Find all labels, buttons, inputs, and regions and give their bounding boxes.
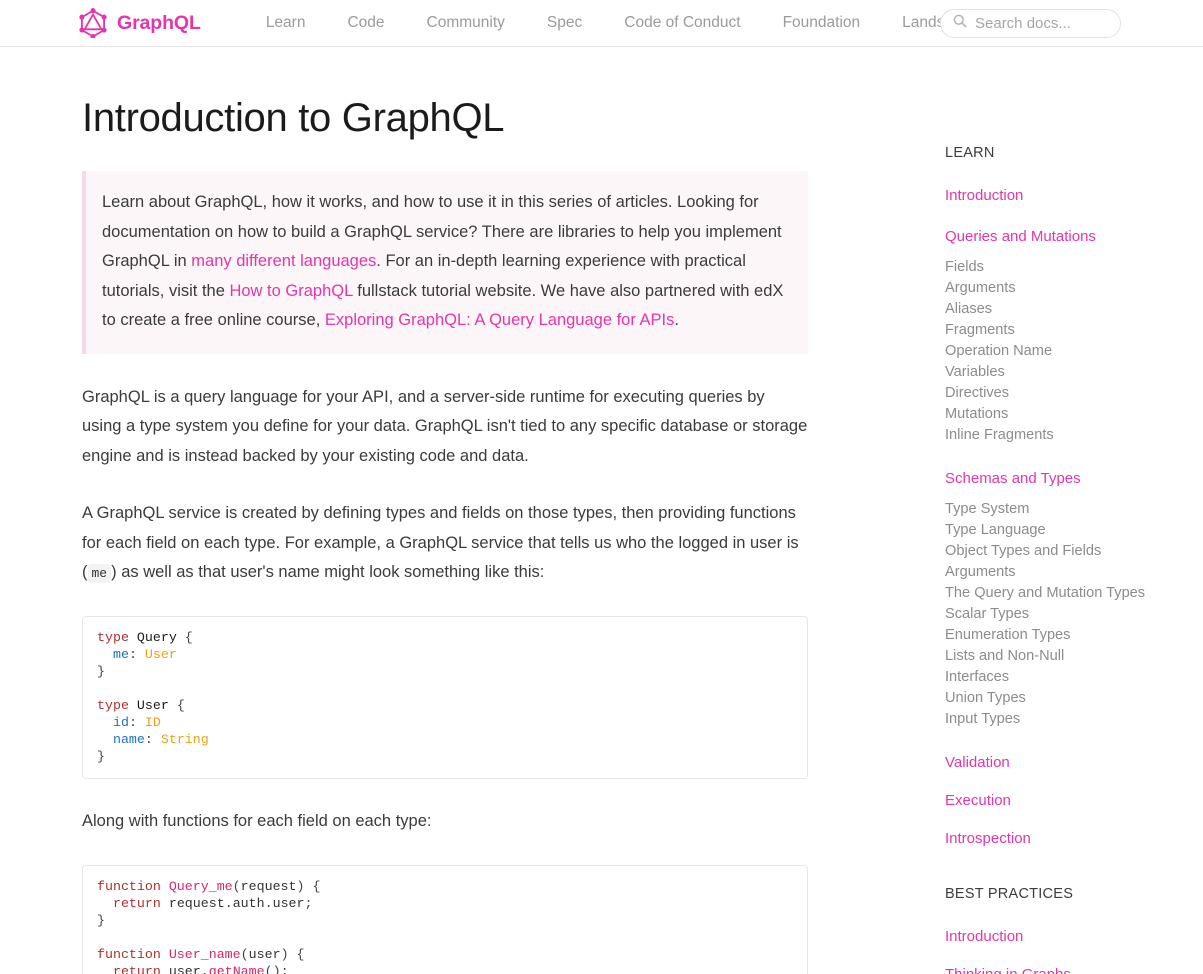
- sidebar-subitem-fields[interactable]: Fields: [945, 257, 1170, 278]
- nav-item-learn[interactable]: Learn: [245, 14, 327, 32]
- sidebar-subitem-variables[interactable]: Variables: [945, 362, 1170, 383]
- sidebar-subitem-input-types[interactable]: Input Types: [945, 709, 1170, 730]
- sidebar-item-thinking-in-graphs[interactable]: Thinking in Graphs: [945, 966, 1170, 974]
- sidebar-subitem-interfaces[interactable]: Interfaces: [945, 667, 1170, 688]
- search-container: [940, 9, 1121, 38]
- graphql-logo-icon: [78, 8, 108, 38]
- sidebar-subitem-scalar-types[interactable]: Scalar Types: [945, 604, 1170, 625]
- paragraph-along-with-functions: Along with functions for each field on e…: [82, 807, 808, 837]
- nav-item-community[interactable]: Community: [406, 14, 526, 32]
- sidebar-subitem-query-and-mutation-types[interactable]: The Query and Mutation Types: [945, 583, 1170, 604]
- paragraph-service-definition: A GraphQL service is created by defining…: [82, 499, 808, 588]
- sidebar-group-queries-and-mutations: Queries and Mutations Fields Arguments A…: [945, 228, 1170, 446]
- brand-home-link[interactable]: GraphQL: [78, 8, 201, 38]
- code-block-functions-content: function Query_me(request) { return requ…: [97, 878, 793, 974]
- sidebar-subitem-directives[interactable]: Directives: [945, 383, 1170, 404]
- intro-callout-text: Learn about GraphQL, how it works, and h…: [102, 188, 786, 336]
- sidebar-subitem-lists-and-non-null[interactable]: Lists and Non-Null: [945, 646, 1170, 667]
- page-layout: Introduction to GraphQL Learn about Grap…: [0, 47, 1203, 974]
- page-title: Introduction to GraphQL: [82, 94, 808, 142]
- sidebar-subitem-fragments[interactable]: Fragments: [945, 320, 1170, 341]
- sidebar-subitem-mutations[interactable]: Mutations: [945, 404, 1170, 425]
- sidebar-subitem-aliases[interactable]: Aliases: [945, 299, 1170, 320]
- nav-item-code-of-conduct[interactable]: Code of Conduct: [603, 14, 761, 32]
- inline-code-me: me: [88, 564, 112, 583]
- sidebar-subitem-arguments[interactable]: Arguments: [945, 278, 1170, 299]
- search-input[interactable]: [975, 15, 1108, 32]
- sidebar-item-introduction[interactable]: Introduction: [945, 187, 1170, 204]
- sidebar-group-introduction: Introduction: [945, 187, 1170, 204]
- sidebar-subitem-enumeration-types[interactable]: Enumeration Types: [945, 625, 1170, 646]
- sidebar-item-schemas-and-types[interactable]: Schemas and Types: [945, 470, 1170, 487]
- link-how-to-graphql[interactable]: How to GraphQL: [229, 282, 352, 300]
- sidebar-item-introspection[interactable]: Introspection: [945, 830, 1170, 847]
- sidebar-subitem-type-system[interactable]: Type System: [945, 499, 1170, 520]
- sidebar-subitem-union-types[interactable]: Union Types: [945, 688, 1170, 709]
- link-exploring-graphql-course[interactable]: Exploring GraphQL: A Query Language for …: [325, 311, 674, 329]
- code-block-schema-content: type Query { me: User } type User { id: …: [97, 629, 793, 765]
- intro-callout: Learn about GraphQL, how it works, and h…: [82, 171, 808, 354]
- sidebar-item-queries-and-mutations[interactable]: Queries and Mutations: [945, 228, 1170, 245]
- link-many-different-languages[interactable]: many different languages: [191, 252, 376, 270]
- code-block-functions: function Query_me(request) { return requ…: [82, 865, 808, 974]
- search-box[interactable]: [940, 9, 1121, 38]
- paragraph-segment-b: ) as well as that user's name might look…: [111, 563, 544, 581]
- docs-sidebar: LEARN Introduction Queries and Mutations…: [808, 47, 1170, 974]
- site-header: GraphQL Learn Code Community Spec Code o…: [0, 0, 1203, 47]
- sidebar-group-schemas-and-types: Schemas and Types Type System Type Langu…: [945, 470, 1170, 730]
- sidebar-subitem-arguments-schema[interactable]: Arguments: [945, 562, 1170, 583]
- sidebar-subitem-object-types-and-fields[interactable]: Object Types and Fields: [945, 541, 1170, 562]
- sidebar-section-title-learn: LEARN: [945, 145, 1170, 161]
- main-nav: Learn Code Community Spec Code of Conduc…: [245, 14, 999, 32]
- sidebar-item-execution[interactable]: Execution: [945, 792, 1170, 809]
- sidebar-subitem-operation-name[interactable]: Operation Name: [945, 341, 1170, 362]
- sidebar-subitem-inline-fragments[interactable]: Inline Fragments: [945, 425, 1170, 446]
- brand-name: GraphQL: [117, 12, 201, 35]
- sidebar-subitem-type-language[interactable]: Type Language: [945, 520, 1170, 541]
- main-content: Introduction to GraphQL Learn about Grap…: [82, 47, 808, 974]
- nav-item-foundation[interactable]: Foundation: [762, 14, 882, 32]
- sidebar-item-validation[interactable]: Validation: [945, 754, 1170, 771]
- search-icon: [953, 14, 967, 33]
- sidebar-group-validation: Validation Execution Introspection: [945, 754, 1170, 847]
- sidebar-group-best-practices: Introduction Thinking in Graphs Serving …: [945, 928, 1170, 974]
- nav-item-code[interactable]: Code: [326, 14, 405, 32]
- code-block-schema: type Query { me: User } type User { id: …: [82, 616, 808, 779]
- sidebar-section-title-best-practices: BEST PRACTICES: [945, 886, 1170, 902]
- callout-text-segment-4: .: [674, 311, 679, 329]
- sidebar-item-bp-introduction[interactable]: Introduction: [945, 928, 1170, 945]
- paragraph-what-is-graphql: GraphQL is a query language for your API…: [82, 383, 808, 472]
- nav-item-spec[interactable]: Spec: [526, 14, 603, 32]
